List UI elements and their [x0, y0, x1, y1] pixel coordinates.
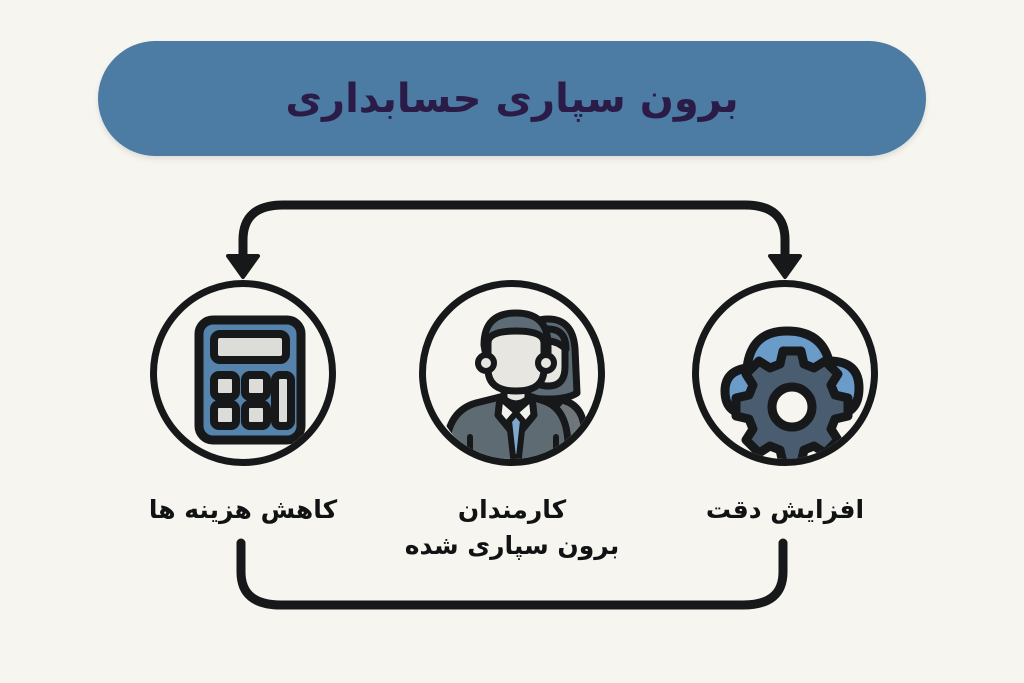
caption-line: افزایش دقت [645, 492, 925, 528]
title-banner: برون سپاری حسابداری [98, 41, 926, 156]
gear-shape [736, 351, 848, 463]
caption-line: برون سپاری شده [372, 528, 652, 564]
top-arrow-bracket [228, 205, 800, 277]
caption-outsourced-employees: کارمندان برون سپاری شده [372, 492, 652, 565]
node-circle-cost-reduction [150, 280, 336, 466]
caption-line: کارمندان [372, 492, 652, 528]
node-outsourced-employees[interactable] [419, 280, 605, 466]
page-title: برون سپاری حسابداری [285, 79, 738, 119]
calculator-icon [157, 287, 336, 466]
caption-line: کاهش هزینه ها [103, 492, 383, 528]
node-increased-accuracy[interactable] [692, 280, 878, 466]
infographic-canvas: برون سپاری حسابداری [0, 0, 1024, 683]
node-cost-reduction[interactable] [150, 280, 336, 466]
caption-cost-reduction: کاهش هزینه ها [103, 492, 383, 528]
cloud-gear-icon [699, 287, 878, 466]
node-circle-outsourced-employees [419, 280, 605, 466]
node-circle-increased-accuracy [692, 280, 878, 466]
two-business-people-icon [426, 287, 605, 466]
caption-increased-accuracy: افزایش دقت [645, 492, 925, 528]
